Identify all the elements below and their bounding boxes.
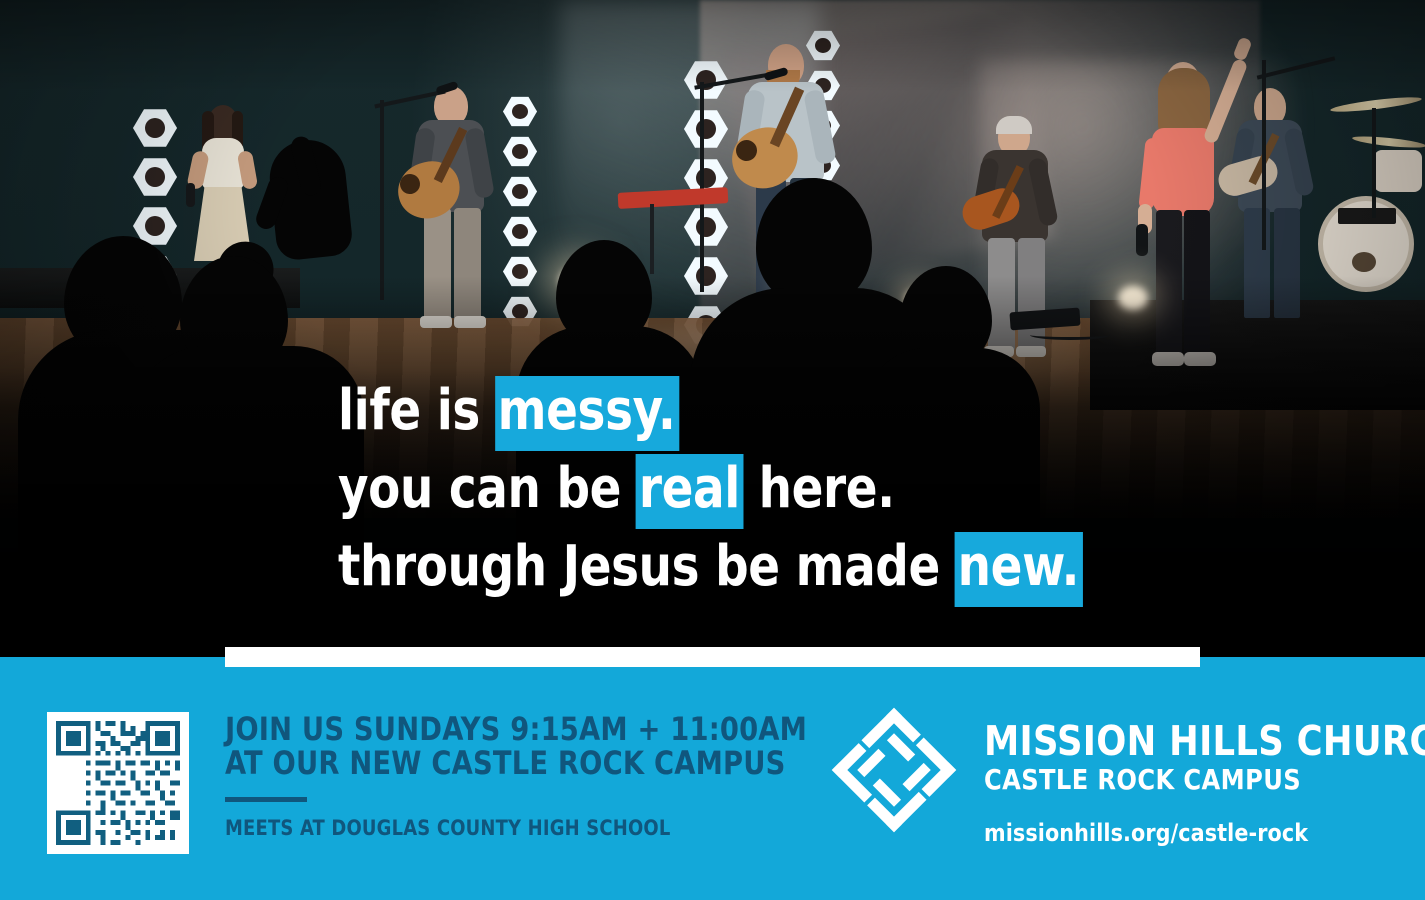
headline-line-2-plain-before: you can be <box>338 456 637 521</box>
church-advertisement-poster: life is messy. you can be real here. thr… <box>0 0 1425 900</box>
qr-code-card[interactable] <box>47 712 189 854</box>
qr-code-icon[interactable] <box>56 721 180 845</box>
headline-line-2: you can be real here. <box>338 450 1138 528</box>
headline-line-3: through Jesus be made new. <box>338 528 1138 606</box>
congregation-silhouette-4-head <box>756 178 872 306</box>
footer-divider <box>225 797 307 802</box>
brand-logo-block: MISSION HILLS CHURCH CASTLE ROCK CAMPUS … <box>830 706 1425 847</box>
headline-line-2-plain-after: here. <box>743 456 895 521</box>
headline-block: life is messy. you can be real here. thr… <box>338 372 1198 606</box>
mic-stand-1 <box>380 100 384 300</box>
mission-hills-diamond-logo-icon <box>830 706 958 834</box>
rack-tom <box>1374 150 1422 192</box>
congregation-silhouette-2-body <box>128 346 364 657</box>
floor-wash-light-3 <box>1118 286 1148 310</box>
mic-stand-3 <box>1262 60 1266 250</box>
brand-website-url[interactable]: missionhills.org/castle-rock <box>984 819 1425 847</box>
headline-line-3-highlight: new. <box>955 532 1083 607</box>
bass-drum-port <box>1352 252 1376 272</box>
service-info-block: JOIN US SUNDAYS 9:15AM + 11:00AM AT OUR … <box>225 712 838 840</box>
bass-drum-logo <box>1338 208 1396 224</box>
brand-name: MISSION HILLS CHURCH <box>984 720 1425 763</box>
venue-line: MEETS AT DOUGLAS COUNTY HIGH SCHOOL <box>225 816 807 840</box>
mic-stand-2 <box>700 82 704 292</box>
brand-campus: CASTLE ROCK CAMPUS <box>984 763 1425 797</box>
headline-line-2-highlight: real <box>636 454 744 529</box>
headline-line-3-plain: through Jesus be made <box>338 534 956 599</box>
stage-cable <box>1030 330 1110 340</box>
campus-line: AT OUR NEW CASTLE ROCK CAMPUS <box>225 746 807 780</box>
white-divider-bar <box>225 647 1200 667</box>
cymbal-stand <box>1372 108 1376 218</box>
headline-line-1-plain: life is <box>338 378 496 443</box>
handheld-microphone <box>1136 224 1148 256</box>
brand-wordmark: MISSION HILLS CHURCH CASTLE ROCK CAMPUS … <box>984 706 1425 847</box>
service-times-line: JOIN US SUNDAYS 9:15AM + 11:00AM <box>225 712 807 746</box>
headline-line-1: life is messy. <box>338 372 1138 450</box>
keyboard-stand <box>650 204 654 274</box>
led-light-column-2 <box>503 96 547 327</box>
headline-line-1-highlight: messy. <box>495 376 679 451</box>
